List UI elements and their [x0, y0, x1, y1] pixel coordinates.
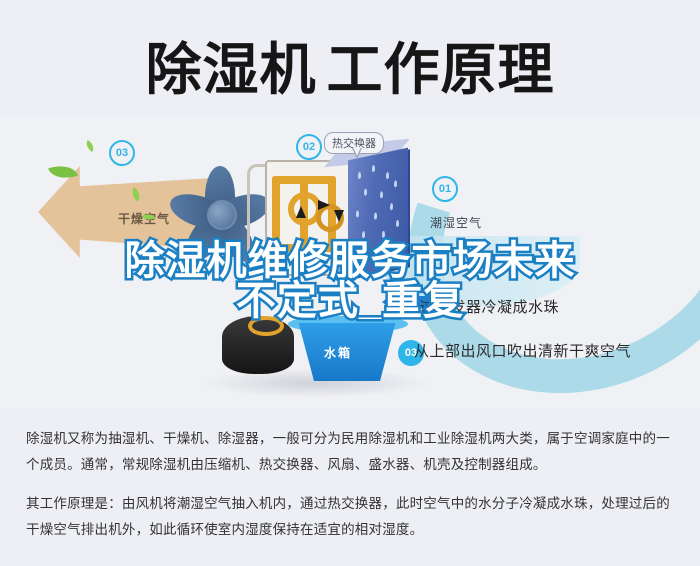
callout-pointer-icon	[352, 148, 362, 159]
page-title: 除湿机工作原理	[0, 30, 700, 110]
body-paragraph-1: 除湿机又称为抽湿机、干燥机、除湿器，一般可分为民用除湿机和工业除湿机两大类，属于…	[26, 426, 674, 479]
water-tank-label: 水箱	[324, 344, 352, 361]
flow-arrow-down-icon	[334, 210, 344, 222]
badge-heat-exchanger: 02	[296, 134, 322, 160]
condensation-drops-icon	[352, 154, 404, 271]
flow-arrow-up-icon	[296, 206, 306, 218]
coil-segment-icon	[272, 176, 280, 252]
compressor-coil-icon	[248, 316, 284, 336]
badge-humid-air: 01	[432, 176, 458, 202]
dehumidifier-diagram: 干燥空气	[0, 118, 700, 408]
humid-air-label: 潮湿空气	[430, 214, 482, 231]
poster-page: 除湿机工作原理 干燥空气	[0, 0, 700, 566]
title-part-two: 工作原理	[327, 38, 555, 101]
flow-arrow-right-icon	[318, 200, 330, 210]
title-part-one: 除湿机	[146, 38, 317, 101]
body-paragraph-2: 其工作原理是：由风机将潮湿空气抽入机内，通过热交换器，此时空气中的水分子冷凝成水…	[26, 491, 674, 544]
leaf-icon	[84, 140, 97, 152]
step-note-outlet: 从上部出风口吹出清新干爽空气	[414, 340, 631, 361]
step-note-condensation: 经过蒸发器冷凝成水珠	[404, 296, 559, 317]
article-body: 除湿机又称为抽湿机、干燥机、除湿器，一般可分为民用除湿机和工业除湿机两大类，属于…	[0, 408, 700, 566]
badge-dry-air: 03	[109, 140, 135, 166]
